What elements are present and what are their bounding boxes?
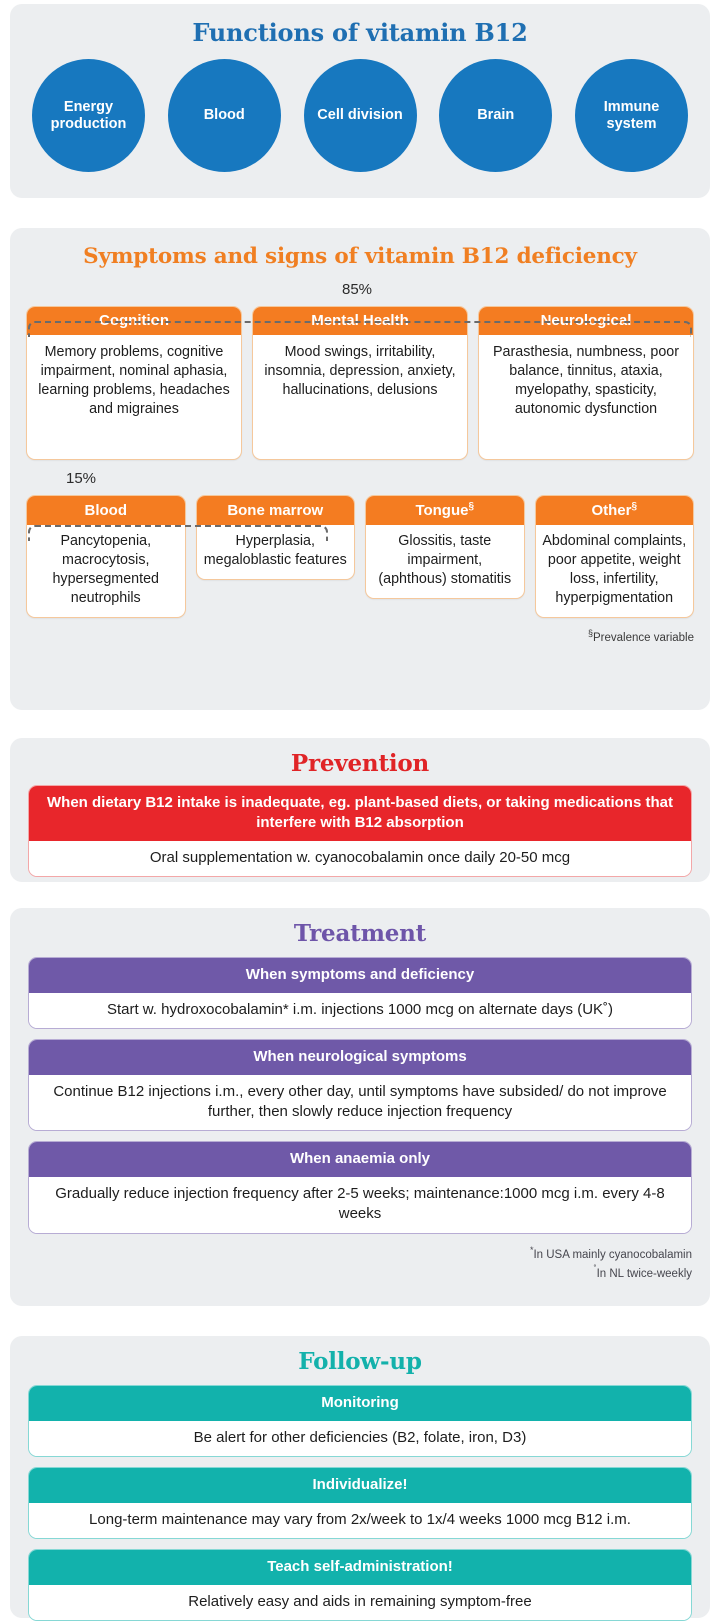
treatment-panel: Treatment When symptoms and deficiency S… — [10, 908, 710, 1306]
symptom-card-body: Mood swings, irritability, insomnia, dep… — [253, 335, 467, 409]
symptoms-footnote: §Prevalence variable — [10, 628, 710, 644]
followup-body: Relatively easy and aids in remaining sy… — [29, 1585, 691, 1620]
treatment-band: When anaemia only — [29, 1142, 691, 1177]
symptom-card-body: Glossitis, taste impairment, (aphthous) … — [366, 525, 524, 598]
treatment-body: Start w. hydroxocobalamin* i.m. injectio… — [29, 993, 691, 1028]
symptoms-row-15: Blood Pancytopenia, macrocytosis, hypers… — [10, 495, 710, 618]
function-circle-label: Blood — [204, 107, 245, 124]
functions-title: Functions of vitamin B12 — [10, 4, 710, 47]
followup-body: Be alert for other deficiencies (B2, fol… — [29, 1421, 691, 1456]
function-circle-label: Cell division — [317, 107, 402, 124]
treatment-band: When neurological symptoms — [29, 1040, 691, 1075]
symptom-card-header-text: Other — [591, 502, 631, 519]
functions-panel: Functions of vitamin B12 Energy producti… — [10, 4, 710, 198]
followup-body: Long-term maintenance may vary from 2x/w… — [29, 1503, 691, 1538]
followup-band: Teach self-administration! — [29, 1550, 691, 1585]
footnote-text: Prevalence variable — [593, 632, 694, 644]
prevalence-15-label: 15% — [66, 470, 710, 487]
treatment-title: Treatment — [10, 908, 710, 947]
prevention-panel: Prevention When dietary B12 intake is in… — [10, 738, 710, 882]
symptom-card-body: Memory problems, cognitive impairment, n… — [27, 335, 241, 428]
followup-panel: Follow-up Monitoring Be alert for other … — [10, 1336, 710, 1618]
function-circle-blood: Blood — [168, 59, 281, 172]
symptom-card-body: Parasthesia, numbness, poor balance, tin… — [479, 335, 693, 428]
prevention-body: Oral supplementation w. cyanocobalamin o… — [29, 841, 691, 876]
symptom-card-header-text: Tongue — [415, 502, 468, 519]
symptom-card-header: Blood — [27, 496, 185, 525]
footnote-text: In USA mainly cyanocobalamin — [533, 1248, 692, 1260]
treatment-block-anaemia-only: When anaemia only Gradually reduce injec… — [28, 1141, 692, 1233]
prevention-title: Prevention — [10, 738, 710, 777]
prevention-block: When dietary B12 intake is inadequate, e… — [28, 785, 692, 877]
function-circle-cell-division: Cell division — [304, 59, 417, 172]
symptom-card-blood: Blood Pancytopenia, macrocytosis, hypers… — [26, 495, 186, 618]
function-circle-label: Brain — [477, 107, 514, 124]
symptom-card-header: Bone marrow — [197, 496, 355, 525]
function-circle-immune-system: Immune system — [575, 59, 688, 172]
treatment-block-neurological: When neurological symptoms Continue B12 … — [28, 1039, 692, 1131]
treatment-band: When symptoms and deficiency — [29, 958, 691, 993]
treatment-block-symptoms-deficiency: When symptoms and deficiency Start w. hy… — [28, 957, 692, 1029]
function-circle-label: Immune system — [583, 99, 680, 132]
treatment-footnote-usa: *In USA mainly cyanocobalamin — [10, 1244, 710, 1264]
symptom-card-header-text: Bone marrow — [227, 502, 323, 519]
footnote-text: In NL twice-weekly — [597, 1268, 692, 1280]
symptom-card-header: Other§ — [536, 496, 694, 525]
followup-band: Individualize! — [29, 1468, 691, 1503]
symptoms-title: Symptoms and signs of vitamin B12 defici… — [10, 228, 710, 269]
symptom-card-other: Other§ Abdominal complaints, poor appeti… — [535, 495, 695, 618]
treatment-body: Continue B12 injections i.m., every othe… — [29, 1075, 691, 1131]
treatment-footnote-nl: ˚In NL twice-weekly — [10, 1263, 710, 1283]
function-circle-label: Energy production — [40, 99, 137, 132]
followup-title: Follow-up — [10, 1336, 710, 1375]
symptom-card-header-marker: § — [468, 501, 474, 512]
followup-block-individualize: Individualize! Long-term maintenance may… — [28, 1467, 692, 1539]
symptom-card-header-text: Blood — [85, 502, 128, 519]
symptom-card-body: Abdominal complaints, poor appetite, wei… — [536, 525, 694, 617]
treatment-body: Gradually reduce injection frequency aft… — [29, 1177, 691, 1233]
symptoms-panel: Symptoms and signs of vitamin B12 defici… — [10, 228, 710, 710]
functions-circle-row: Energy production Blood Cell division Br… — [10, 47, 710, 172]
symptom-card-header-marker: § — [631, 501, 637, 512]
symptom-card-tongue: Tongue§ Glossitis, taste impairment, (ap… — [365, 495, 525, 599]
prevention-band: When dietary B12 intake is inadequate, e… — [29, 786, 691, 841]
function-circle-energy-production: Energy production — [32, 59, 145, 172]
bracket-85-icon — [28, 321, 692, 337]
prevalence-85-label: 85% — [4, 281, 710, 298]
function-circle-brain: Brain — [439, 59, 552, 172]
followup-block-teach-self-administration: Teach self-administration! Relatively ea… — [28, 1549, 692, 1621]
bracket-15-icon — [28, 525, 328, 541]
followup-band: Monitoring — [29, 1386, 691, 1421]
followup-block-monitoring: Monitoring Be alert for other deficienci… — [28, 1385, 692, 1457]
infographic-page: Functions of vitamin B12 Energy producti… — [0, 0, 720, 1624]
symptom-card-header: Tongue§ — [366, 496, 524, 525]
